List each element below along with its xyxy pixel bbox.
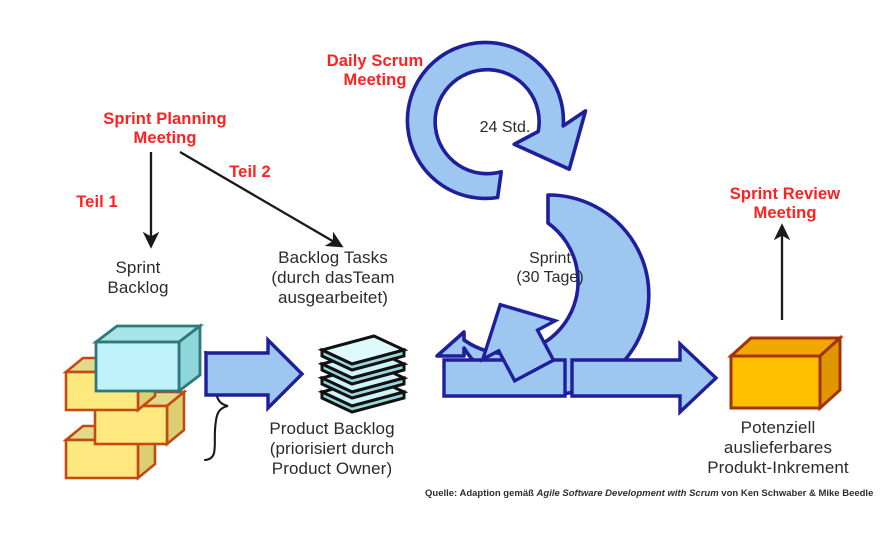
label-backlog-tasks: Backlog Tasks (durch dasTeam ausgearbeit… xyxy=(238,248,428,308)
label-daily-scrum-meeting: Daily Scrum Meeting xyxy=(280,52,470,91)
source-work-title: Agile Software Development with Scrum xyxy=(537,488,719,499)
scrum-process-diagram: Sprint Planning Meeting Teil 1 Teil 2 Da… xyxy=(0,0,885,543)
source-attribution: Quelle: Adaption gemäß Agile Software De… xyxy=(425,488,873,499)
sprint-backlog-box xyxy=(96,326,200,391)
label-cycle-24-std: 24 Std. xyxy=(415,119,595,138)
label-teil-2: Teil 2 xyxy=(205,163,295,182)
label-sprint-backlog: Sprint Backlog xyxy=(68,258,208,298)
label-sprint-planning-meeting: Sprint Planning Meeting xyxy=(60,110,270,149)
label-cycle-sprint-duration: Sprint (30 Tage) xyxy=(455,250,645,288)
label-sprint-review-meeting: Sprint Review Meeting xyxy=(700,185,870,224)
source-suffix: von Ken Schwaber & Mike Beedle xyxy=(719,488,874,499)
product-increment-box xyxy=(731,338,840,408)
label-product-backlog: Product Backlog (priorisiert durch Produ… xyxy=(232,419,432,479)
backlog-tasks-paper-stack xyxy=(322,336,404,412)
label-teil-1: Teil 1 xyxy=(52,193,142,212)
flow-arrow-backlog-to-tasks xyxy=(206,340,302,408)
label-product-increment: Potenziell auslieferbares Produkt-Inkrem… xyxy=(678,418,878,478)
source-prefix: Quelle: Adaption gemäß xyxy=(425,488,537,499)
